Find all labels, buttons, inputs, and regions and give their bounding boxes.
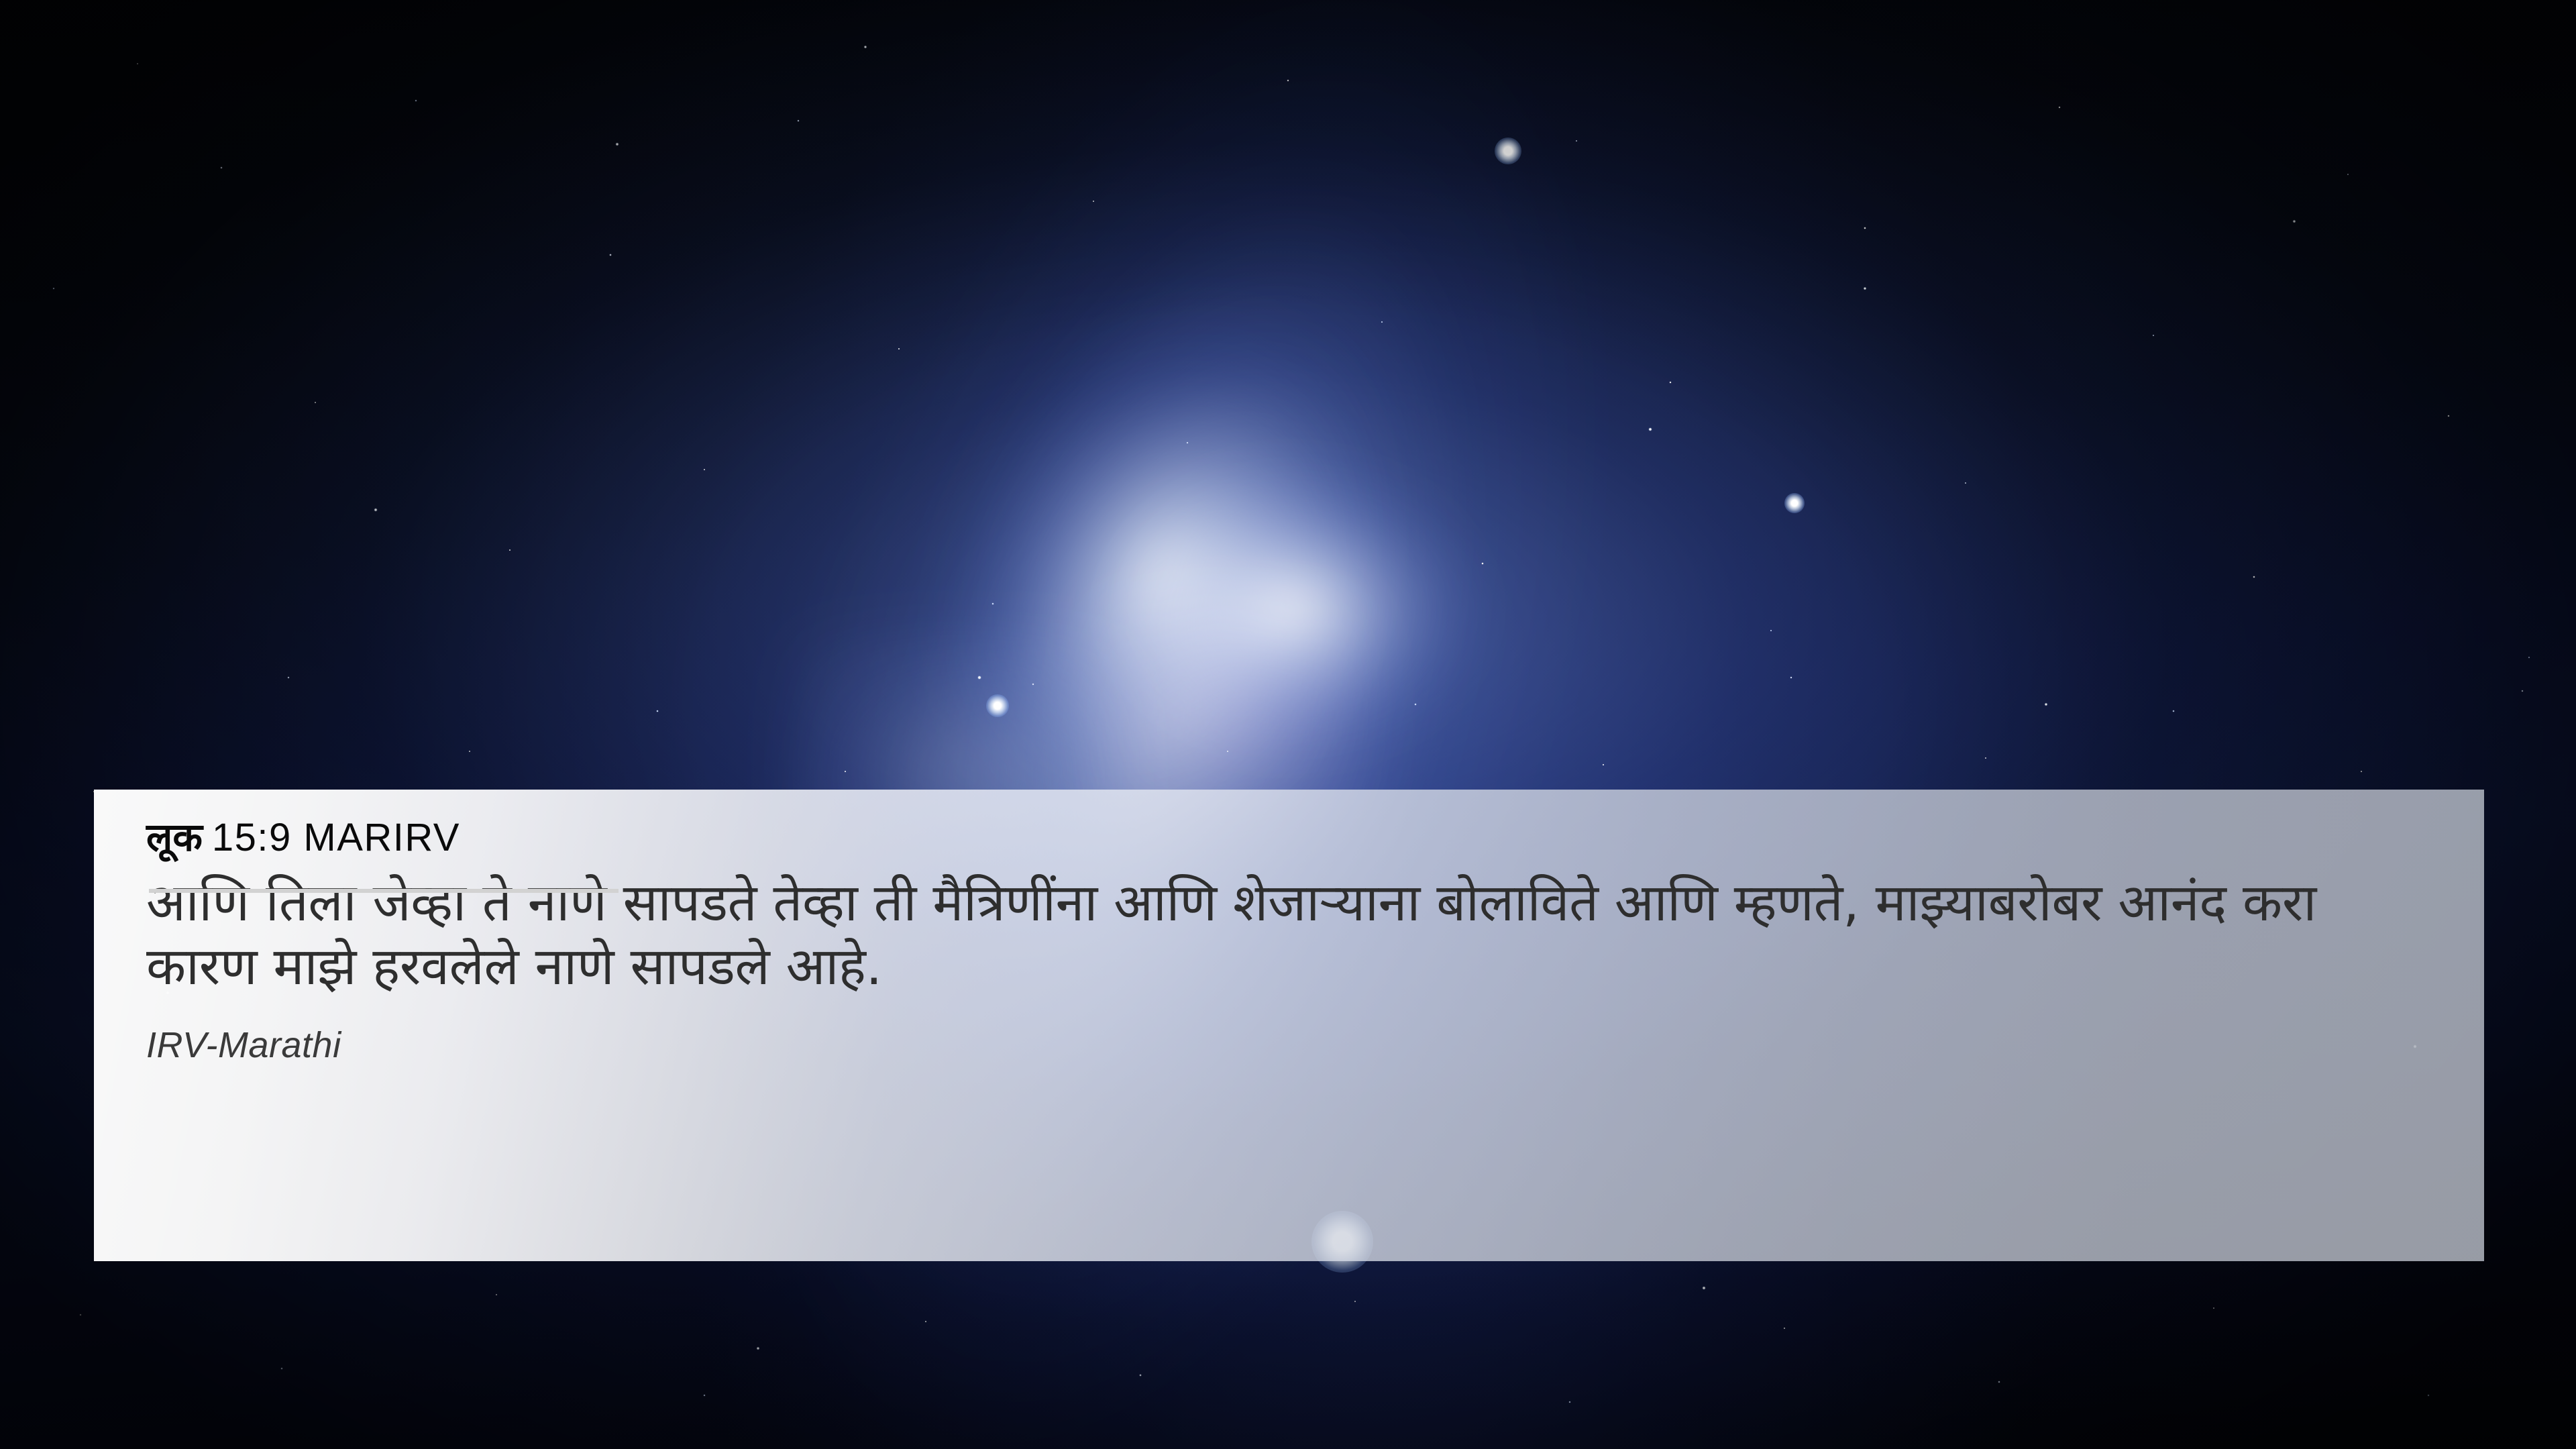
- verse-reference: लूक15:9 MARIRV: [146, 818, 460, 857]
- verse-image-canvas: लूक15:9 MARIRV आणि तिला जेव्हा ते नाणे स…: [0, 0, 2576, 1449]
- verse-reference-location: 15:9 MARIRV: [212, 816, 460, 859]
- verse-reference-underline: [149, 889, 619, 893]
- verse-attribution: IRV-Marathi: [146, 1024, 2444, 1066]
- verse-reference-book: लूक: [146, 814, 203, 860]
- verse-card: लूक15:9 MARIRV आणि तिला जेव्हा ते नाणे स…: [94, 790, 2484, 1261]
